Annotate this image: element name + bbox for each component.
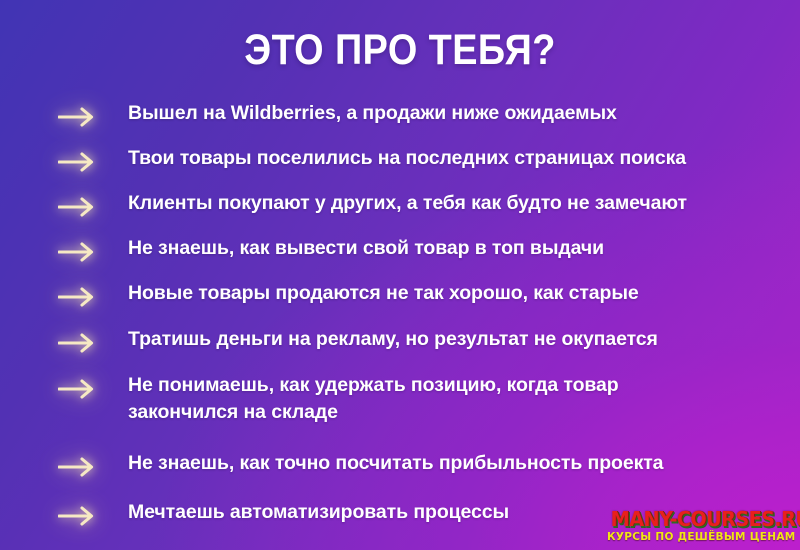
list-item: Клиенты покупают у других, а тебя как бу…	[0, 186, 800, 231]
list-item: Новые товары продаются не так хорошо, ка…	[0, 276, 800, 321]
arrow-right-icon	[58, 231, 128, 263]
arrow-right-icon	[58, 276, 128, 308]
list-item-label: Не знаешь, как вывести свой товар в топ …	[128, 231, 800, 262]
list-item: Вышел на Wildberries, а продажи ниже ожи…	[0, 96, 800, 141]
list-item-label: Вышел на Wildberries, а продажи ниже ожи…	[128, 96, 800, 127]
pain-points-list: Вышел на Wildberries, а продажи ниже ожи…	[0, 96, 800, 540]
slide-canvas: ЭТО ПРО ТЕБЯ? Вышел на Wildberries, а пр…	[0, 0, 800, 550]
arrow-right-icon	[58, 322, 128, 354]
list-item-label: Твои товары поселились на последних стра…	[128, 141, 800, 172]
arrow-right-icon	[58, 368, 128, 400]
list-item-label: Не знаешь, как точно посчитать прибыльно…	[128, 446, 800, 477]
list-item: Твои товары поселились на последних стра…	[0, 141, 800, 186]
watermark-tagline: КУРСЫ ПО ДЕШЁВЫМ ЦЕНАМ	[607, 532, 791, 543]
list-item-label: Клиенты покупают у других, а тебя как бу…	[128, 186, 800, 217]
arrow-right-icon	[58, 446, 128, 478]
watermark-brand: MANY-COURSES.RU	[611, 509, 788, 529]
list-item-label: Не понимаешь, как удержать позицию, когд…	[128, 368, 800, 426]
arrow-right-icon	[58, 141, 128, 173]
page-title: ЭТО ПРО ТЕБЯ?	[48, 26, 752, 74]
list-item: Тратишь деньги на рекламу, но результат …	[0, 322, 800, 367]
list-item-label: Новые товары продаются не так хорошо, ка…	[128, 276, 800, 307]
list-item: Не знаешь, как точно посчитать прибыльно…	[0, 446, 800, 491]
arrow-right-icon	[58, 186, 128, 218]
list-item: Не знаешь, как вывести свой товар в топ …	[0, 231, 800, 276]
arrow-right-icon	[58, 495, 128, 527]
arrow-right-icon	[58, 96, 128, 128]
list-item: Не понимаешь, как удержать позицию, когд…	[0, 368, 800, 442]
list-item-label: Тратишь деньги на рекламу, но результат …	[128, 322, 800, 353]
watermark: MANY-COURSES.RU КУРСЫ ПО ДЕШЁВЫМ ЦЕНАМ	[607, 509, 791, 543]
